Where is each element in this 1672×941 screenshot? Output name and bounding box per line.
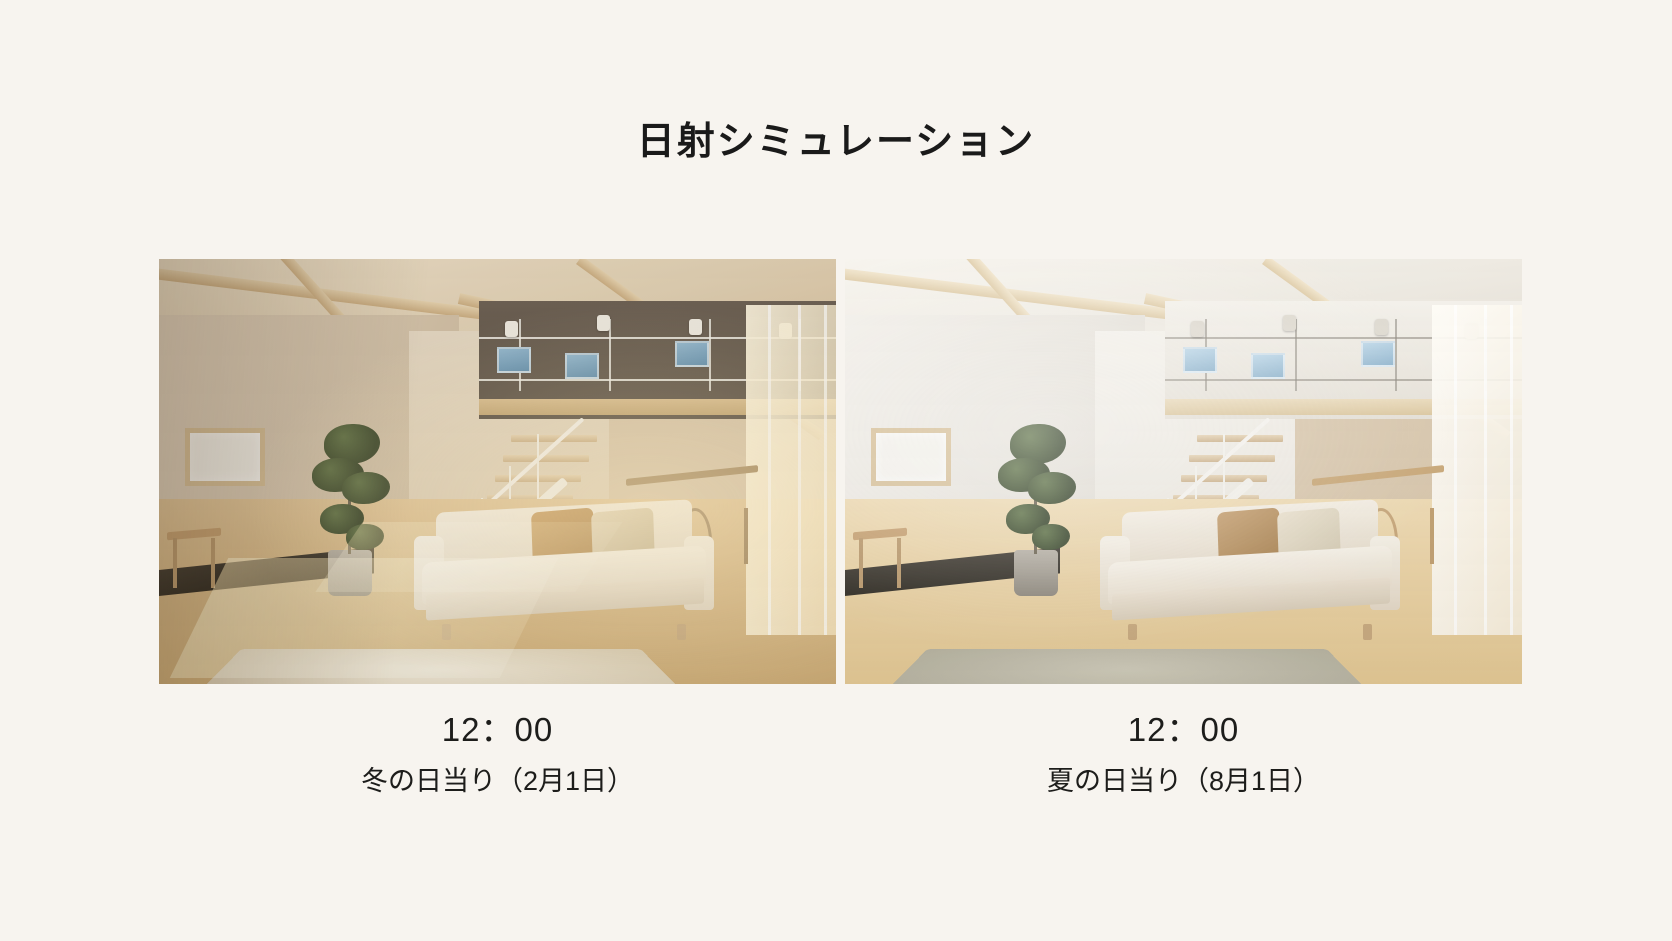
panel-summer: 12：00 夏の日当り（8月1日） <box>845 259 1522 799</box>
sofa <box>414 500 714 630</box>
track-light <box>505 321 518 337</box>
plant-pot <box>1014 550 1058 596</box>
interior-scene-summer <box>845 259 1522 684</box>
track-light <box>689 319 702 335</box>
track-light <box>597 315 610 331</box>
window-mullion <box>768 305 771 635</box>
simulation-panels: 12：00 冬の日当り（2月1日） <box>159 259 1514 799</box>
window-mullion <box>1510 305 1513 635</box>
stair-step <box>503 455 589 462</box>
loft-window <box>675 341 709 367</box>
stair-step <box>1189 455 1275 462</box>
loft-post <box>1395 319 1397 391</box>
plant-foliage <box>1028 472 1076 504</box>
caption-time-winter: 12：00 <box>159 710 836 750</box>
plant-foliage <box>342 472 390 504</box>
stool-leg <box>173 538 177 588</box>
window-mullion <box>798 305 801 635</box>
window-mullion <box>1484 305 1487 635</box>
potted-plant <box>988 381 1084 596</box>
caption-label-winter: 冬の日当り（2月1日） <box>159 764 836 799</box>
wooden-stool <box>167 530 221 588</box>
plant-foliage <box>1032 524 1070 550</box>
sofa-leg <box>442 624 451 640</box>
caption-time-summer: 12：00 <box>845 710 1522 750</box>
sofa-leg <box>1128 624 1137 640</box>
dining-table <box>1312 465 1444 486</box>
glass-wall <box>1432 305 1522 635</box>
loft-window <box>497 347 531 373</box>
render-image-winter[interactable] <box>159 259 836 684</box>
loft-window <box>1183 347 1217 373</box>
table-leg <box>744 508 748 564</box>
caption-summer: 12：00 夏の日当り（8月1日） <box>845 710 1522 799</box>
window-mullion <box>824 305 827 635</box>
stool-leg <box>211 538 215 588</box>
glass-wall <box>746 305 836 635</box>
wall-window <box>871 428 951 486</box>
stool-leg <box>897 538 901 588</box>
sofa <box>1100 500 1400 630</box>
area-rug <box>181 649 701 684</box>
wall-window <box>185 428 265 486</box>
track-light <box>1191 321 1204 337</box>
plant-foliage <box>346 524 384 550</box>
caption-label-summer: 夏の日当り（8月1日） <box>845 764 1522 799</box>
area-rug <box>867 649 1387 684</box>
sofa-leg <box>677 624 686 640</box>
caption-winter: 12：00 冬の日当り（2月1日） <box>159 710 836 799</box>
dining-table <box>626 465 758 486</box>
window-mullion <box>1454 305 1457 635</box>
render-image-summer[interactable] <box>845 259 1522 684</box>
wooden-stool <box>853 530 907 588</box>
stair-baluster <box>537 434 539 504</box>
plant-pot <box>328 550 372 596</box>
loft-post <box>709 319 711 391</box>
track-light <box>1375 319 1388 335</box>
loft-window <box>565 353 599 379</box>
stair-baluster <box>1223 434 1225 504</box>
loft-window <box>1361 341 1395 367</box>
panel-winter: 12：00 冬の日当り（2月1日） <box>159 259 836 799</box>
loft-window <box>1251 353 1285 379</box>
interior-scene-winter <box>159 259 836 684</box>
sofa-leg <box>1363 624 1372 640</box>
page-title: 日射シミュレーション <box>0 118 1672 167</box>
table-leg <box>1430 508 1434 564</box>
track-light <box>1283 315 1296 331</box>
stool-leg <box>859 538 863 588</box>
potted-plant <box>302 381 398 596</box>
